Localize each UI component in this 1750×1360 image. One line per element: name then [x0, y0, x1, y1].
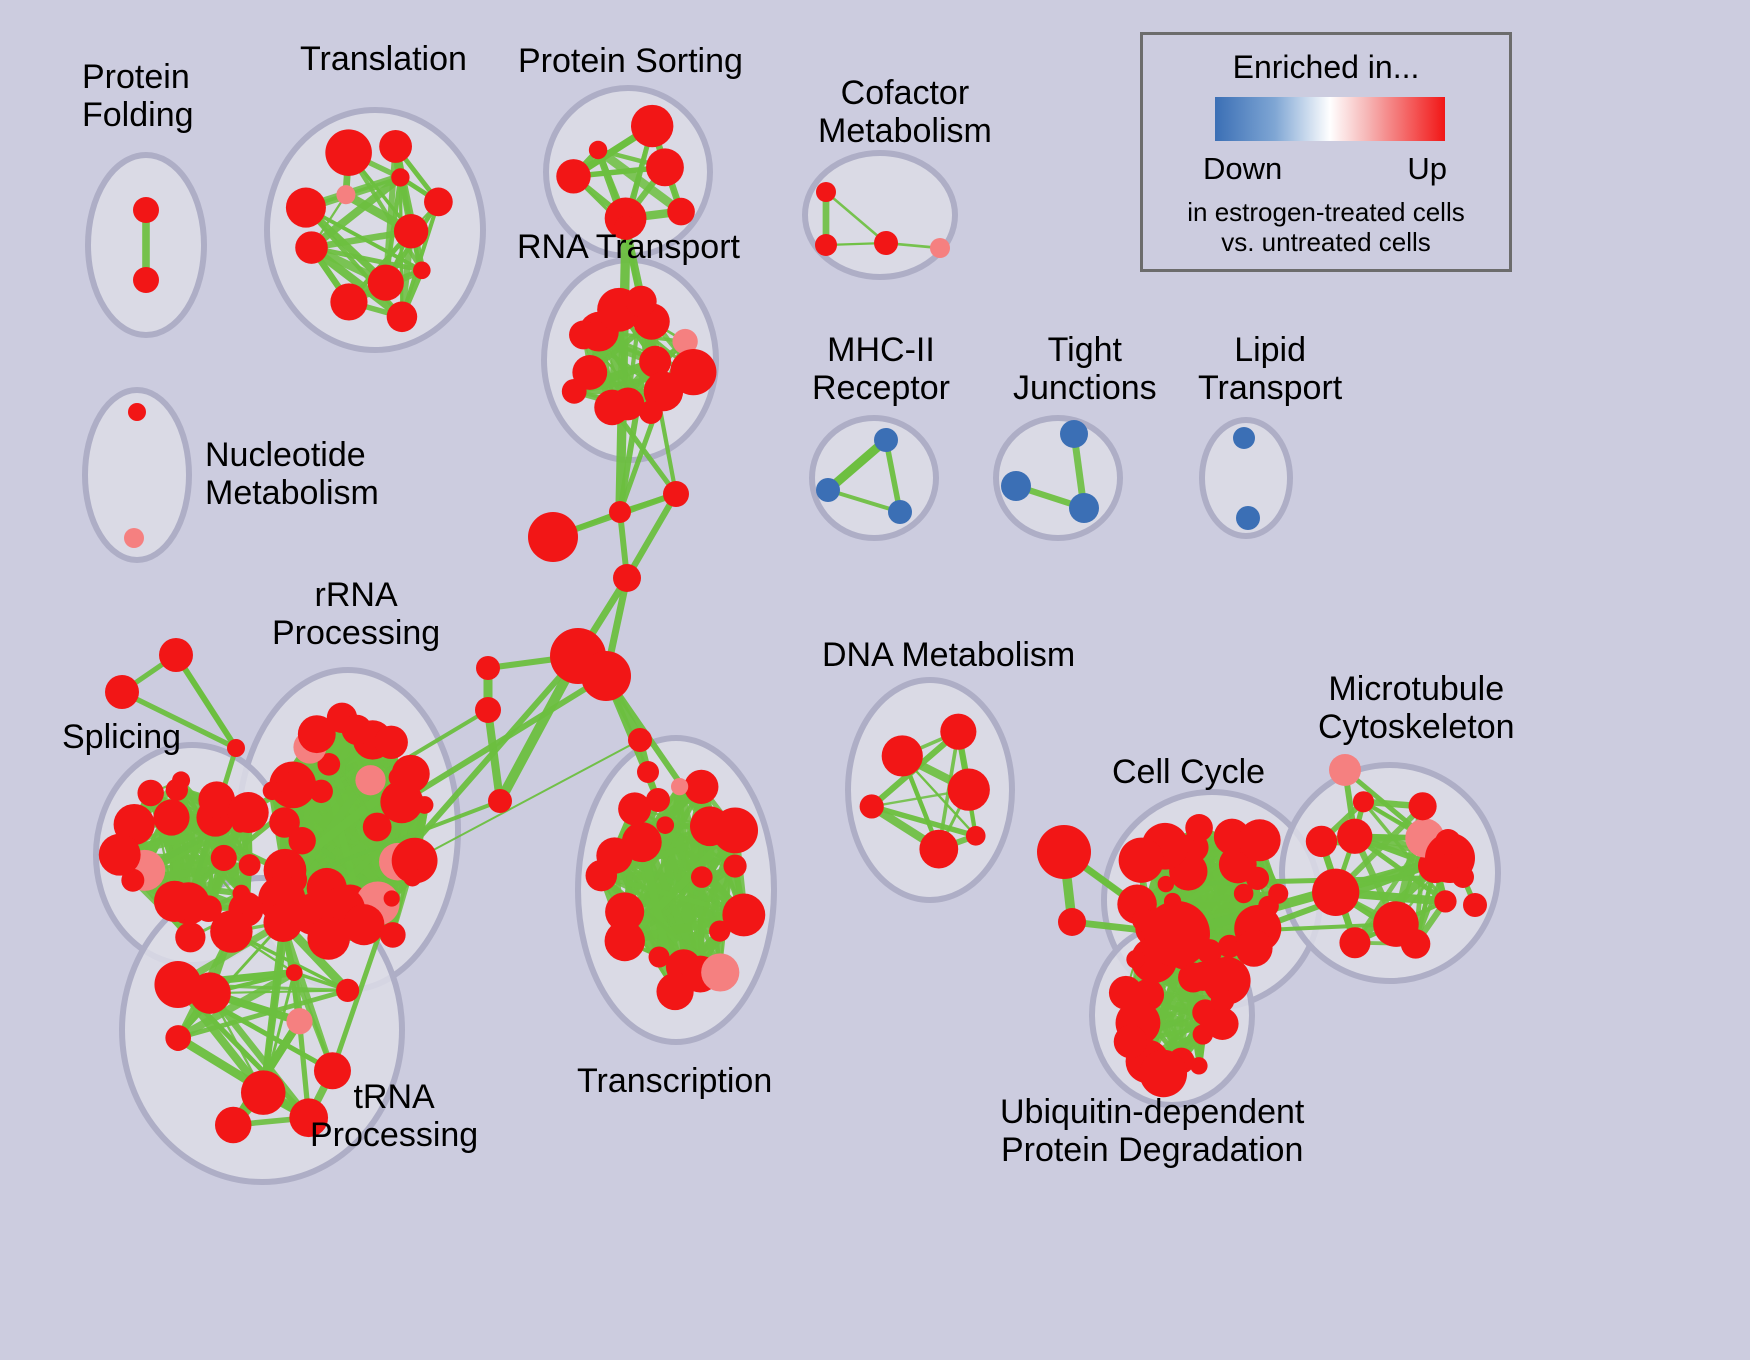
network-node-tight-junctions — [1060, 420, 1088, 448]
network-node-trna-processing — [154, 961, 201, 1008]
network-node-translation — [394, 214, 428, 248]
network-node-cofactor-metabolism — [815, 234, 837, 256]
network-node-cell-cycle — [1158, 876, 1174, 892]
network-node-bridge — [1463, 893, 1487, 917]
network-node-translation — [330, 283, 367, 320]
cluster-label-rrna-processing: rRNAProcessing — [272, 576, 440, 652]
cluster-label-rna-transport: RNA Transport — [517, 228, 740, 266]
network-node-rna-transport — [625, 286, 656, 317]
network-node-rna-transport — [569, 321, 598, 350]
network-node-dna-metabolism — [948, 769, 990, 811]
network-node-tight-junctions — [1001, 471, 1031, 501]
network-node-lipid-transport — [1236, 506, 1260, 530]
network-node-nucleotide-metabolism — [124, 528, 144, 548]
network-node-microtubule-cytoskeleton — [1312, 869, 1359, 916]
network-node-translation — [286, 188, 326, 228]
network-node-cell-cycle — [1239, 819, 1281, 861]
network-node-transcription — [691, 866, 713, 888]
network-node-cofactor-metabolism — [816, 182, 836, 202]
cluster-ellipse-translation — [267, 110, 483, 350]
network-node-microtubule-cytoskeleton — [1353, 791, 1374, 812]
cluster-label-dna-metabolism: DNA Metabolism — [822, 636, 1075, 674]
network-node-bridge — [476, 656, 500, 680]
network-node-translation — [368, 265, 404, 301]
network-node-rna-transport — [594, 390, 630, 426]
network-node-cell-cycle — [1185, 814, 1213, 842]
network-node-bridge — [227, 739, 245, 757]
network-node-splicing — [175, 922, 205, 952]
network-edge — [400, 177, 402, 316]
network-node-splicing — [154, 881, 195, 922]
network-node-microtubule-cytoskeleton — [1434, 890, 1456, 912]
network-node-trna-processing — [286, 1008, 312, 1034]
network-node-rrna-processing — [384, 890, 400, 906]
cluster-label-translation: Translation — [300, 40, 467, 78]
cluster-label-mhc-ii-receptor: MHC-IIReceptor — [812, 331, 950, 407]
network-node-trna-processing — [215, 1107, 251, 1143]
network-node-ubiquitin-protein-degradation — [1126, 950, 1145, 969]
network-node-transcription — [605, 921, 645, 961]
network-node-ubiquitin-protein-degradation — [1114, 1025, 1147, 1058]
network-node-cell-cycle — [1268, 884, 1288, 904]
cluster-ellipse-mhc-ii-receptor — [812, 418, 936, 538]
network-node-splicing — [211, 845, 237, 871]
network-node-bridge — [1058, 908, 1086, 936]
network-node-microtubule-cytoskeleton — [1409, 792, 1437, 820]
network-node-dna-metabolism — [860, 794, 884, 818]
network-node-lipid-transport — [1233, 427, 1255, 449]
network-node-dna-metabolism — [966, 826, 986, 846]
network-node-rna-transport — [639, 400, 663, 424]
network-node-protein-sorting — [589, 141, 607, 159]
network-node-bridge — [1144, 901, 1210, 967]
network-node-splicing — [239, 854, 261, 876]
network-node-translation — [413, 262, 431, 280]
legend-caption-line1: in estrogen-treated cells — [1187, 197, 1464, 227]
network-node-translation — [295, 231, 328, 264]
network-node-protein-folding — [133, 197, 159, 223]
network-node-transcription — [722, 893, 765, 936]
network-node-translation — [387, 302, 418, 333]
cluster-label-ubiquitin-protein-degradation: Ubiquitin-dependentProtein Degradation — [1000, 1093, 1304, 1169]
network-node-transcription — [649, 946, 670, 967]
cluster-label-splicing: Splicing — [62, 718, 181, 756]
network-node-translation — [424, 188, 453, 217]
network-node-transcription — [671, 778, 688, 795]
network-node-rrna-processing — [342, 715, 372, 745]
network-node-translation — [336, 185, 355, 204]
network-node-bridge — [613, 564, 641, 592]
network-node-rrna-processing — [269, 807, 300, 838]
network-node-rrna-processing — [380, 922, 406, 948]
network-node-microtubule-cytoskeleton — [1337, 819, 1372, 854]
network-node-trna-processing — [210, 910, 252, 952]
legend-low-label: Down — [1203, 151, 1282, 187]
network-node-ubiquitin-protein-degradation — [1206, 1008, 1238, 1040]
network-node-rrna-processing — [392, 755, 430, 793]
network-node-microtubule-cytoskeleton — [1401, 929, 1430, 958]
network-node-mhc-ii-receptor — [888, 500, 912, 524]
network-node-protein-folding — [133, 267, 159, 293]
network-node-rna-transport — [670, 349, 716, 395]
network-node-cell-cycle — [1235, 930, 1272, 967]
network-node-bridge — [169, 1033, 187, 1051]
network-node-microtubule-cytoskeleton — [1339, 927, 1370, 958]
network-node-splicing — [137, 780, 163, 806]
network-node-dna-metabolism — [882, 735, 923, 776]
network-node-protein-sorting — [556, 159, 590, 193]
network-node-trna-processing — [241, 1070, 286, 1115]
network-node-translation — [325, 129, 372, 176]
network-node-transcription — [656, 816, 674, 834]
network-node-bridge — [105, 675, 139, 709]
cluster-label-tight-junctions: TightJunctions — [1013, 331, 1157, 407]
network-node-rrna-processing — [355, 765, 385, 795]
network-node-bridge — [475, 697, 501, 723]
network-node-splicing — [99, 834, 141, 876]
legend-caption: in estrogen-treated cellsvs. untreated c… — [1143, 197, 1509, 257]
network-node-bridge — [663, 481, 689, 507]
network-node-transcription — [618, 792, 651, 825]
network-node-transcription — [712, 808, 758, 854]
network-node-cell-cycle — [1119, 838, 1164, 883]
network-node-protein-sorting — [631, 105, 673, 147]
legend-caption-line2: vs. untreated cells — [1221, 227, 1431, 257]
network-node-rrna-processing — [416, 796, 434, 814]
cluster-label-nucleotide-metabolism: NucleotideMetabolism — [205, 436, 379, 512]
network-figure: ProteinFolding Translation Protein Sorti… — [0, 0, 1750, 1360]
network-node-protein-sorting — [667, 198, 695, 226]
cluster-label-transcription: Transcription — [577, 1062, 772, 1100]
network-node-splicing — [172, 771, 190, 789]
network-node-microtubule-cytoskeleton — [1306, 826, 1337, 857]
network-node-rrna-processing — [403, 868, 421, 886]
network-node-rrna-processing — [307, 917, 350, 960]
legend-high-label: Up — [1407, 151, 1447, 187]
network-node-translation — [391, 168, 409, 186]
network-node-dna-metabolism — [919, 830, 958, 869]
legend-color-gradient-bar — [1215, 97, 1445, 141]
network-node-tight-junctions — [1069, 493, 1099, 523]
network-node-mhc-ii-receptor — [816, 478, 840, 502]
network-node-protein-sorting — [646, 148, 684, 186]
network-node-ubiquitin-protein-degradation — [1109, 976, 1143, 1010]
network-node-transcription — [684, 770, 718, 804]
cluster-label-cofactor-metabolism: CofactorMetabolism — [818, 74, 992, 150]
network-node-bridge — [159, 638, 193, 672]
network-node-bridge — [646, 788, 670, 812]
cluster-label-protein-folding: ProteinFolding — [82, 58, 194, 134]
network-node-transcription — [701, 953, 739, 991]
network-node-transcription — [656, 973, 693, 1010]
network-node-cell-cycle — [1246, 867, 1269, 890]
network-node-trna-processing — [263, 903, 302, 942]
legend-title: Enriched in... — [1143, 49, 1509, 86]
network-node-cofactor-metabolism — [874, 231, 898, 255]
network-node-ubiquitin-protein-degradation — [1190, 1057, 1207, 1074]
network-node-bridge — [1037, 825, 1091, 879]
network-node-bridge — [488, 789, 512, 813]
network-node-trna-processing — [336, 979, 359, 1002]
network-node-bridge — [637, 761, 659, 783]
network-node-rna-transport — [562, 379, 587, 404]
network-node-rrna-processing — [263, 781, 282, 800]
network-node-trna-processing — [286, 964, 303, 981]
network-node-bridge — [1329, 754, 1361, 786]
network-node-mhc-ii-receptor — [874, 428, 898, 452]
network-node-bridge — [628, 728, 652, 752]
cluster-label-microtubule-cytoskeleton: MicrotubuleCytoskeleton — [1318, 670, 1515, 746]
network-node-bridge — [528, 512, 578, 562]
network-node-bridge — [1435, 829, 1461, 855]
network-node-ubiquitin-protein-degradation — [1140, 1050, 1187, 1097]
network-node-rrna-processing — [298, 715, 336, 753]
network-node-cofactor-metabolism — [930, 238, 950, 258]
network-node-splicing — [228, 792, 269, 833]
cluster-label-protein-sorting: Protein Sorting — [518, 42, 743, 80]
cluster-label-lipid-transport: LipidTransport — [1198, 331, 1342, 407]
network-node-transcription — [723, 854, 746, 877]
cluster-label-trna-processing: tRNAProcessing — [310, 1078, 478, 1154]
network-node-translation — [379, 130, 412, 163]
cluster-label-cell-cycle: Cell Cycle — [1112, 753, 1265, 791]
network-node-dna-metabolism — [940, 714, 976, 750]
network-node-bridge — [609, 501, 631, 523]
network-node-nucleotide-metabolism — [128, 403, 146, 421]
network-node-bridge — [581, 651, 631, 701]
network-node-rrna-processing — [375, 726, 408, 759]
network-node-splicing — [153, 799, 189, 835]
network-node-transcription — [586, 860, 618, 892]
legend-box: Enriched in... Down Up in estrogen-treat… — [1140, 32, 1512, 272]
network-node-bridge — [1452, 866, 1474, 888]
